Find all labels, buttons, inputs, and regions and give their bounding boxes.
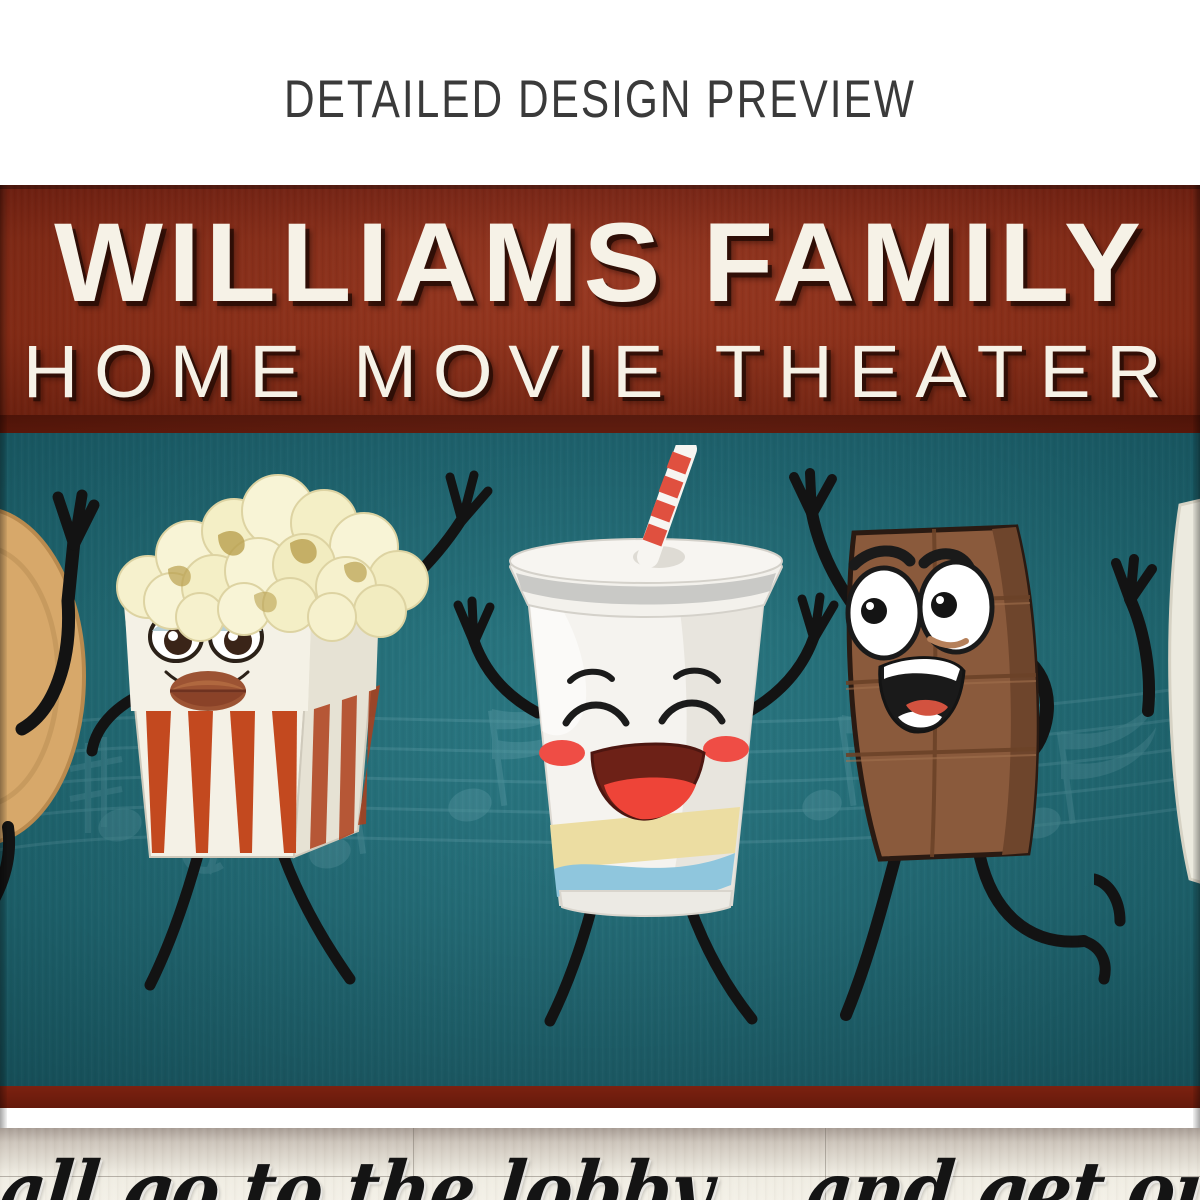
sign-scene [0, 433, 1200, 1108]
sign-title-line2: HOME MOVIE THEATER [23, 335, 1178, 409]
sign-left-edge [0, 185, 7, 1128]
scene-bottom-edge [0, 1086, 1200, 1108]
popcorn-legs [150, 855, 350, 985]
sign-title-line1: WILLIAMS FAMILY [54, 207, 1146, 319]
popcorn-stripes-side [310, 685, 380, 849]
marquee-divider [0, 415, 1200, 433]
sign-marquee: WILLIAMS FAMILY HOME MOVIE THEATER [0, 185, 1200, 433]
soda-legs [550, 907, 752, 1021]
preview-header: DETAILED DESIGN PREVIEW [0, 0, 1200, 185]
page-title: DETAILED DESIGN PREVIEW [284, 55, 916, 130]
sign-bottom-panel: all go to the lobby… and get ourselves a [0, 1128, 1200, 1200]
sign-title-line2-row: HOME MOVIE THEATER [0, 335, 1200, 409]
chocolate-legs [846, 855, 1105, 1015]
sign-title-line1-row: WILLIAMS FAMILY [0, 207, 1200, 319]
sign-right-edge [1193, 185, 1200, 1128]
candy-character [1094, 475, 1200, 945]
script-line: all go to the lobby… and get ourselves a [0, 1148, 1200, 1200]
popcorn-kernels [117, 475, 428, 641]
marquee-top-edge [0, 185, 1200, 189]
sign-artwork: WILLIAMS FAMILY HOME MOVIE THEATER [0, 185, 1200, 1128]
lobby-script-text: all go to the lobby… and get ourselves a [0, 1143, 1200, 1200]
